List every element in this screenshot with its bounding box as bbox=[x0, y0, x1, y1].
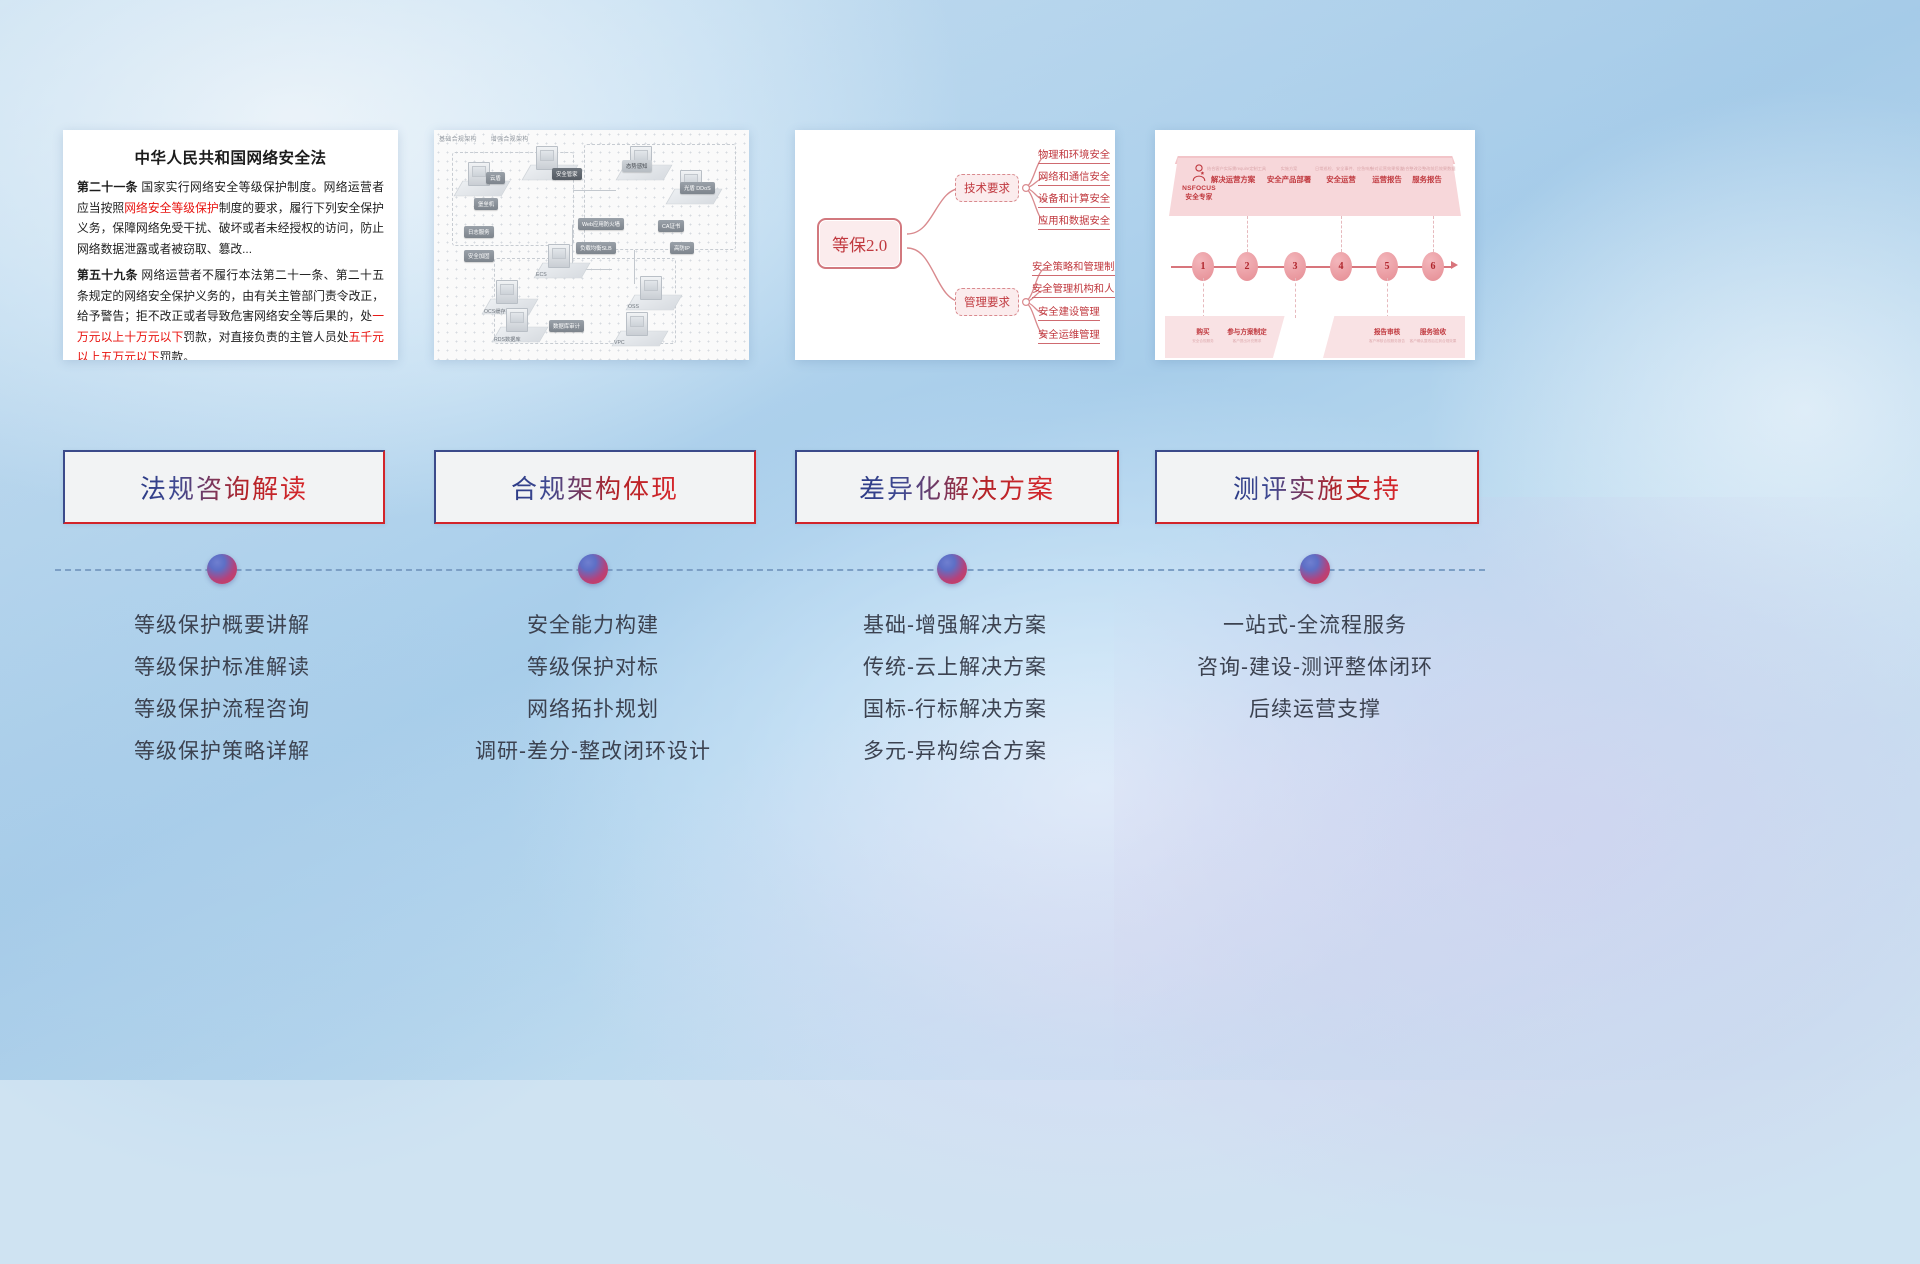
timeline-node-1[interactable] bbox=[207, 554, 237, 584]
nsfocus-footer-right-2: 服务验收客户确认整改后达到合规效果 bbox=[1398, 326, 1468, 344]
mindmap-leaf-t1: 物理和环境安全 bbox=[1038, 146, 1110, 164]
title-box-differentiated-solution[interactable]: 差异化解决方案 bbox=[795, 450, 1119, 524]
mindmap-leaf-m2: 安全管理机构和人员 bbox=[1032, 280, 1115, 298]
mindmap-leaf-m1: 安全策略和管理制度 bbox=[1032, 258, 1115, 276]
nsfocus-tick-6 bbox=[1433, 216, 1435, 252]
feature-item-2-1: 安全能力构建 bbox=[424, 605, 762, 647]
nsfocus-footer-sub-left-2: 客户提出补充需求 bbox=[1212, 339, 1282, 344]
nsfocus-expert-line1: NSFOCUS bbox=[1175, 184, 1223, 193]
card-compliance-architecture: 基础合规架构 增强合规架构 bbox=[434, 130, 749, 360]
nsfocus-step-sub-1: 结合客户实际需require定制工具 bbox=[1207, 166, 1259, 172]
feature-item-4-2: 咨询-建设-测评整体闭环 bbox=[1150, 647, 1480, 689]
nsfocus-number-4: 4 bbox=[1330, 252, 1352, 281]
feature-item-2-4: 调研-差分-整改闭环设计 bbox=[424, 731, 762, 773]
arch-chip-4: Web应用防火墙 bbox=[578, 218, 624, 230]
card-mindmap-dengbao: 等保2.0 技术要求 管理要求 物理和环境安全 网络和通信安全 设备和计算安全 … bbox=[795, 130, 1115, 360]
title-text-1: 法规咨询解读 bbox=[140, 469, 308, 506]
nsfocus-tick-3 bbox=[1295, 278, 1297, 318]
nsfocus-expert-line2: 安全专家 bbox=[1175, 193, 1223, 202]
nsfocus-number-3: 3 bbox=[1284, 252, 1306, 281]
nsfocus-tick-1 bbox=[1203, 278, 1205, 318]
arch-chip-12: 安全加固 bbox=[464, 250, 494, 262]
feature-item-4-3: 后续运营支撑 bbox=[1150, 689, 1480, 731]
mindmap-branch-technical: 技术要求 bbox=[955, 174, 1019, 202]
nsfocus-tick-2 bbox=[1247, 216, 1249, 252]
feature-list-4: 一站式-全流程服务咨询-建设-测评整体闭环后续运营支撑 bbox=[1150, 605, 1480, 731]
feature-item-3-4: 多元-异构综合方案 bbox=[790, 731, 1120, 773]
nsfocus-footer-sub-right-2: 客户确认整改后达到合规效果 bbox=[1398, 339, 1468, 344]
mindmap-leaf-t2: 网络和通信安全 bbox=[1038, 168, 1110, 186]
mindmap-leaf-t4: 应用和数据安全 bbox=[1038, 212, 1110, 230]
title-box-regulation-consulting[interactable]: 法规咨询解读 bbox=[63, 450, 385, 524]
feature-item-3-3: 国标-行标解决方案 bbox=[790, 689, 1120, 731]
arch-header-basic: 基础合规架构 bbox=[439, 137, 477, 143]
nsfocus-footer-title-left-2: 参与方案制定 bbox=[1212, 326, 1282, 336]
arch-connector-4 bbox=[634, 250, 635, 284]
feature-item-3-1: 基础-增强解决方案 bbox=[790, 605, 1120, 647]
nsfocus-step-sub-3: 日常巡检、安全事件、应急响应 bbox=[1315, 166, 1367, 172]
title-text-3: 差异化解决方案 bbox=[859, 469, 1055, 506]
nsfocus-step-title-2: 安全产品部署 bbox=[1263, 174, 1315, 185]
feature-item-1-2: 等级保护标准解读 bbox=[63, 647, 381, 689]
nsfocus-tick-4 bbox=[1341, 216, 1343, 252]
law-paragraph-59: 第五十九条 网络运营者不履行本法第二十一条、第二十五条规定的网络安全保护义务的，… bbox=[77, 265, 384, 360]
arch-iso-label-rds: RDS数据库 bbox=[494, 336, 521, 343]
timeline-node-2[interactable] bbox=[578, 554, 608, 584]
arch-chip-8: 堡垒机 bbox=[474, 198, 498, 210]
feature-list-1: 等级保护概要讲解等级保护标准解读等级保护流程咨询等级保护策略详解 bbox=[63, 605, 381, 773]
law-article-number: 第五十九条 bbox=[77, 268, 138, 282]
nsfocus-step-title-3: 安全运营 bbox=[1315, 174, 1367, 185]
nsfocus-footer-title-right-2: 服务验收 bbox=[1398, 326, 1468, 336]
nsfocus-timeline: NSFOCUS 安全专家 结合客户实际需require定制工具解决运营方案实施方… bbox=[1155, 130, 1475, 360]
law-article-number: 第二十一条 bbox=[77, 180, 138, 194]
nsfocus-step-1: 结合客户实际需require定制工具解决运营方案 bbox=[1207, 166, 1259, 185]
arch-chip-1: 安全管家 bbox=[552, 168, 582, 180]
feature-list-3: 基础-增强解决方案传统-云上解决方案国标-行标解决方案多元-异构综合方案 bbox=[790, 605, 1120, 773]
nsfocus-step-title-1: 解决运营方案 bbox=[1207, 174, 1259, 185]
arch-header-enhanced: 增强合规架构 bbox=[491, 137, 529, 143]
arch-iso-label-ocs: OCS缓存 bbox=[484, 308, 506, 315]
title-box-assessment-support[interactable]: 测评实施支持 bbox=[1155, 450, 1479, 524]
nsfocus-step-title-5: 服务报告 bbox=[1401, 174, 1453, 185]
arch-chip-2: 态势感知 bbox=[622, 160, 652, 172]
mindmap-leaf-m4: 安全运维管理 bbox=[1038, 326, 1100, 344]
feature-list-2: 安全能力构建等级保护对标网络拓扑规划调研-差分-整改闭环设计 bbox=[424, 605, 762, 773]
card-nsfocus-timeline: NSFOCUS 安全专家 结合客户实际需require定制工具解决运营方案实施方… bbox=[1155, 130, 1475, 360]
nsfocus-number-6: 6 bbox=[1422, 252, 1444, 281]
arch-chip-10: 数据库审计 bbox=[549, 320, 584, 332]
card-cybersecurity-law: 中华人民共和国网络安全法 第二十一条 国家实行网络安全等级保护制度。网络运营者应… bbox=[63, 130, 398, 360]
nsfocus-step-2: 实施方案安全产品部署 bbox=[1263, 166, 1315, 185]
arch-chip-11: 日志服务 bbox=[464, 226, 494, 238]
mindmap: 等保2.0 技术要求 管理要求 物理和环境安全 网络和通信安全 设备和计算安全 … bbox=[795, 130, 1115, 360]
mindmap-root-node: 等保2.0 bbox=[817, 218, 902, 269]
title-box-compliance-architecture[interactable]: 合规架构体现 bbox=[434, 450, 756, 524]
feature-item-4-1: 一站式-全流程服务 bbox=[1150, 605, 1480, 647]
title-text-2: 合规架构体现 bbox=[511, 469, 679, 506]
feature-item-1-4: 等级保护策略详解 bbox=[63, 731, 381, 773]
architecture-header-labels: 基础合规架构 增强合规架构 bbox=[439, 134, 541, 143]
mindmap-leaf-m3: 安全建设管理 bbox=[1038, 303, 1100, 321]
architecture-diagram: 基础合规架构 增强合规架构 bbox=[434, 130, 749, 360]
arch-iso-label-vpc: VPC bbox=[614, 340, 625, 346]
nsfocus-step-3: 日常巡检、安全事件、应急响应安全运营 bbox=[1315, 166, 1367, 185]
nsfocus-step-sub-2: 实施方案 bbox=[1263, 166, 1315, 172]
arch-iso-label-oss: OSS bbox=[628, 304, 639, 310]
law-body-text: 罚款，对直接负责的主管人员处 bbox=[183, 330, 348, 344]
arch-chip-6: 高防IP bbox=[670, 242, 694, 254]
nsfocus-axis-arrow bbox=[1451, 261, 1458, 269]
nsfocus-number-5: 5 bbox=[1376, 252, 1398, 281]
feature-item-2-3: 网络拓扑规划 bbox=[424, 689, 762, 731]
law-paragraph-21: 第二十一条 国家实行网络安全等级保护制度。网络运营者应当按照网络安全等级保护制度… bbox=[77, 177, 384, 259]
nsfocus-tick-5 bbox=[1387, 278, 1389, 318]
arch-iso-label-ecs: ECS bbox=[536, 272, 547, 278]
nsfocus-number-1: 1 bbox=[1192, 252, 1214, 281]
nsfocus-step-5: 结合整改及整改前后效果数据服务报告 bbox=[1401, 166, 1453, 185]
feature-item-1-3: 等级保护流程咨询 bbox=[63, 689, 381, 731]
nsfocus-step-sub-5: 结合整改及整改前后效果数据 bbox=[1401, 166, 1453, 172]
mindmap-leaf-t3: 设备和计算安全 bbox=[1038, 190, 1110, 208]
arch-connector-1 bbox=[574, 190, 616, 191]
timeline-node-3[interactable] bbox=[937, 554, 967, 584]
slide-stage: 中华人民共和国网络安全法 第二十一条 国家实行网络安全等级保护制度。网络运营者应… bbox=[0, 0, 1920, 1080]
arch-chip-9: 云盾 bbox=[486, 172, 505, 184]
nsfocus-number-2: 2 bbox=[1236, 252, 1258, 281]
law-title: 中华人民共和国网络安全法 bbox=[77, 146, 384, 168]
expert-person-icon bbox=[1191, 164, 1207, 182]
arch-chip-7: 负载均衡SLB bbox=[576, 242, 616, 254]
feature-item-1-1: 等级保护概要讲解 bbox=[63, 605, 381, 647]
arch-chip-3: 光盾 DDoS bbox=[680, 182, 715, 194]
nsfocus-footer-left-2: 参与方案制定客户提出补充需求 bbox=[1212, 326, 1282, 344]
mindmap-branch-management: 管理要求 bbox=[955, 288, 1019, 316]
title-text-4: 测评实施支持 bbox=[1233, 469, 1401, 506]
law-document: 中华人民共和国网络安全法 第二十一条 国家实行网络安全等级保护制度。网络运营者应… bbox=[63, 130, 398, 360]
timeline-node-4[interactable] bbox=[1300, 554, 1330, 584]
law-body-text: 罚款。 bbox=[160, 350, 195, 360]
timeline-rail bbox=[55, 569, 1485, 571]
law-highlight-text: 网络安全等级保护 bbox=[124, 201, 218, 215]
arch-chip-5: CA证书 bbox=[658, 220, 684, 232]
feature-item-3-2: 传统-云上解决方案 bbox=[790, 647, 1120, 689]
feature-item-2-2: 等级保护对标 bbox=[424, 647, 762, 689]
